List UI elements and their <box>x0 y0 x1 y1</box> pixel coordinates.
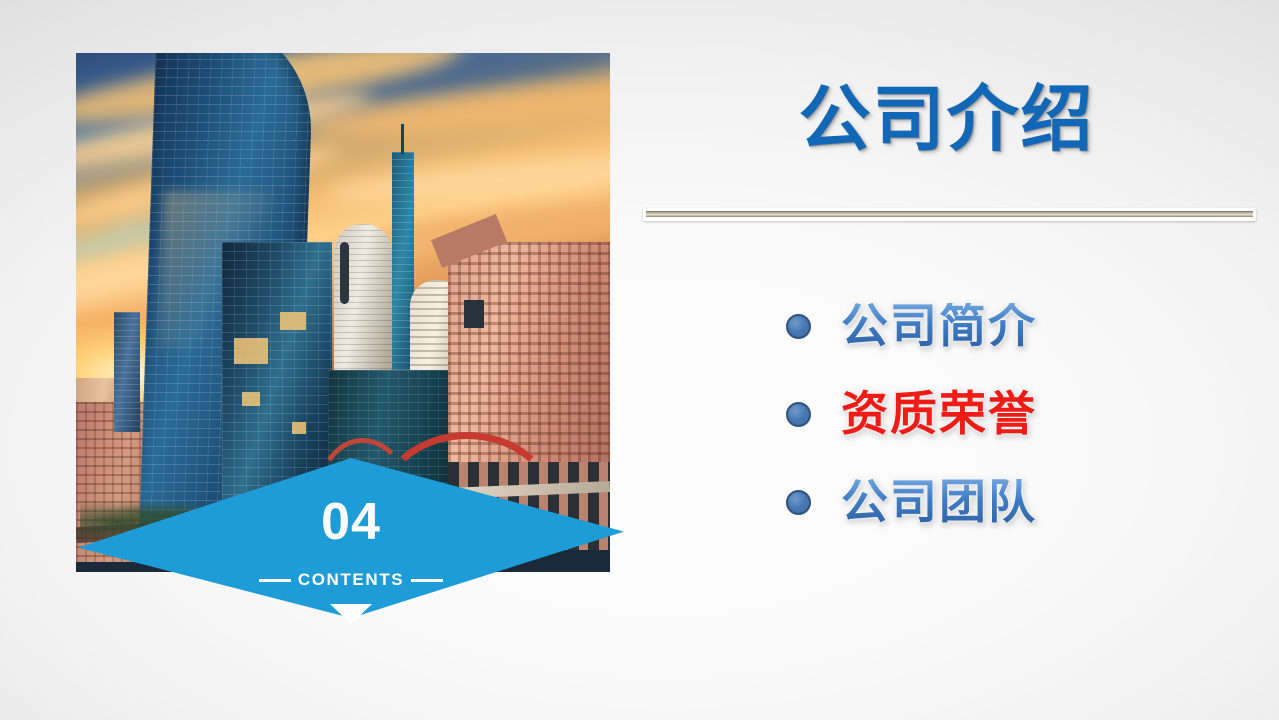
lit-window <box>292 422 306 434</box>
lit-window <box>242 392 260 406</box>
presentation-slide: 04 CONTENTS 公司介绍 公司简介 资质荣誉 公司团队 <box>0 0 1279 720</box>
lit-window <box>280 312 306 330</box>
bullet-dot-icon <box>786 314 811 339</box>
agenda-item-2[interactable]: 资质荣誉 <box>786 370 1246 458</box>
cloud-streak <box>325 149 610 212</box>
building-spire <box>114 312 140 432</box>
slide-title: 公司介绍 <box>640 82 1253 158</box>
bullet-dot-icon <box>786 402 811 427</box>
lit-window <box>234 338 268 364</box>
dark-window <box>464 300 484 328</box>
agenda-item-label: 资质荣誉 <box>841 391 1037 438</box>
right-content-column: 公司介绍 公司简介 资质荣誉 公司团队 <box>640 0 1279 720</box>
title-divider <box>643 208 1256 221</box>
agenda-item-label: 公司团队 <box>841 479 1037 526</box>
agenda-item-label: 公司简介 <box>841 303 1037 350</box>
tower-notch <box>340 242 349 304</box>
agenda-item-3[interactable]: 公司团队 <box>786 458 1246 546</box>
agenda-list: 公司简介 资质荣誉 公司团队 <box>786 282 1246 546</box>
antenna <box>401 124 404 154</box>
agenda-item-1[interactable]: 公司简介 <box>786 282 1246 370</box>
bullet-dot-icon <box>786 490 811 515</box>
